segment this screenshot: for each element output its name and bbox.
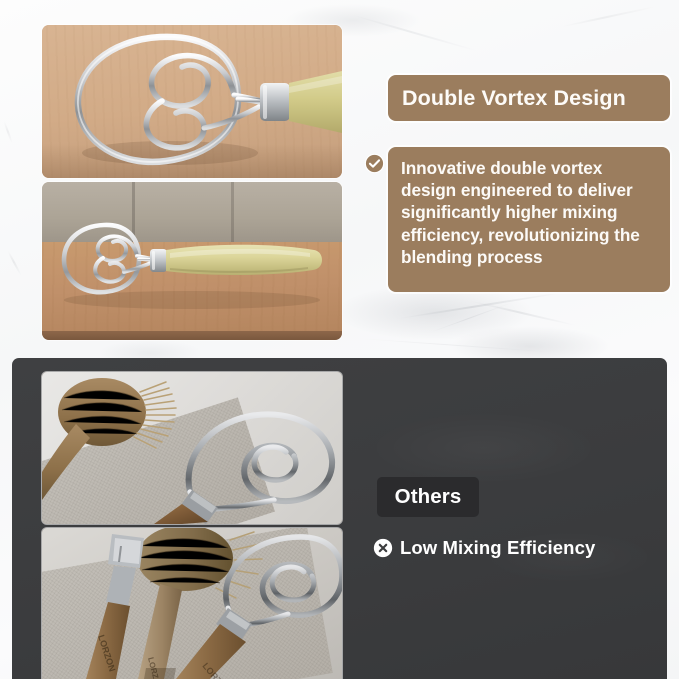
product-photo-closeup-whisk-head [42, 25, 342, 178]
marble-vein [7, 251, 22, 277]
competitor-single-spiral-whisk-illustration [42, 372, 342, 524]
full-whisk-illustration [42, 182, 342, 340]
pros-title-badge: Double Vortex Design [388, 75, 670, 121]
cons-bullet-row: Low Mixing Efficiency [373, 537, 595, 559]
marble-vein [560, 5, 658, 28]
marble-vein [352, 14, 478, 52]
check-circle-icon [364, 153, 385, 174]
competitor-tools-illustration: LORZON LORZ LORZON [42, 528, 342, 679]
pros-title-label: Double Vortex Design [402, 86, 626, 111]
pros-description-box: Innovative double vortex design engineer… [388, 147, 670, 292]
pros-description-text: Innovative double vortex design engineer… [401, 157, 658, 268]
marble-vein [3, 121, 13, 144]
marble-vein [430, 301, 515, 333]
product-photo-full-whisk [42, 182, 342, 340]
infographic-page: Double Vortex Design Innovative double v… [0, 0, 679, 679]
marble-vein [470, 300, 578, 327]
marble-vein [396, 291, 564, 320]
cons-bullet-label: Low Mixing Efficiency [400, 537, 595, 559]
cons-title-badge: Others [377, 477, 479, 517]
marble-vein [358, 338, 558, 353]
competitor-photo-tool-set: LORZON LORZ LORZON [42, 528, 342, 679]
double-vortex-whisk-illustration [42, 25, 342, 178]
x-circle-icon [373, 538, 393, 558]
cons-title-label: Others [395, 485, 462, 509]
competitor-photo-whisk-closeup [42, 372, 342, 524]
